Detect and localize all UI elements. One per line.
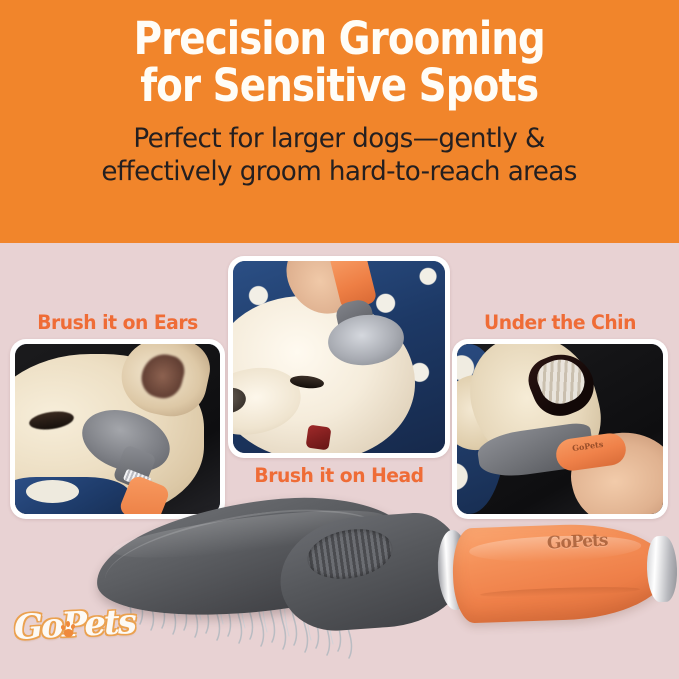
photo-chin-image: GoPets (457, 344, 663, 514)
brush-handle-end-cap (646, 535, 678, 602)
caption-head: Brush it on Head (232, 464, 445, 487)
paw-pad (64, 629, 73, 637)
page-subtitle: Perfect for larger dogs—gently & effecti… (102, 123, 577, 189)
photo-head-image (233, 261, 445, 453)
brand-logo: GoPets (14, 605, 134, 657)
photo-ears-image (15, 344, 220, 514)
subtitle-line-2: effectively groom hard-to-reach areas (102, 156, 577, 189)
product-marketing-poster: Precision Grooming for Sensitive Spots P… (0, 0, 679, 679)
title-line-1: Precision Grooming (134, 12, 545, 65)
photo-head (228, 256, 450, 458)
dog-collar-tag-shape (306, 425, 332, 451)
header-banner: Precision Grooming for Sensitive Spots P… (0, 0, 679, 243)
paw-print-icon (60, 621, 77, 637)
paw-toe-2 (66, 621, 70, 627)
subtitle-line-1: Perfect for larger dogs—gently & (134, 123, 545, 154)
product-brush: GoPets (95, 492, 679, 679)
caption-ears: Brush it on Ears (14, 311, 220, 334)
page-title: Precision Grooming for Sensitive Spots (134, 16, 545, 110)
paw-toe-3 (70, 624, 75, 630)
caption-chin: Under the Chin (456, 311, 663, 334)
brush-handle-logo: GoPets (547, 530, 608, 553)
title-line-2: for Sensitive Spots (134, 63, 545, 110)
